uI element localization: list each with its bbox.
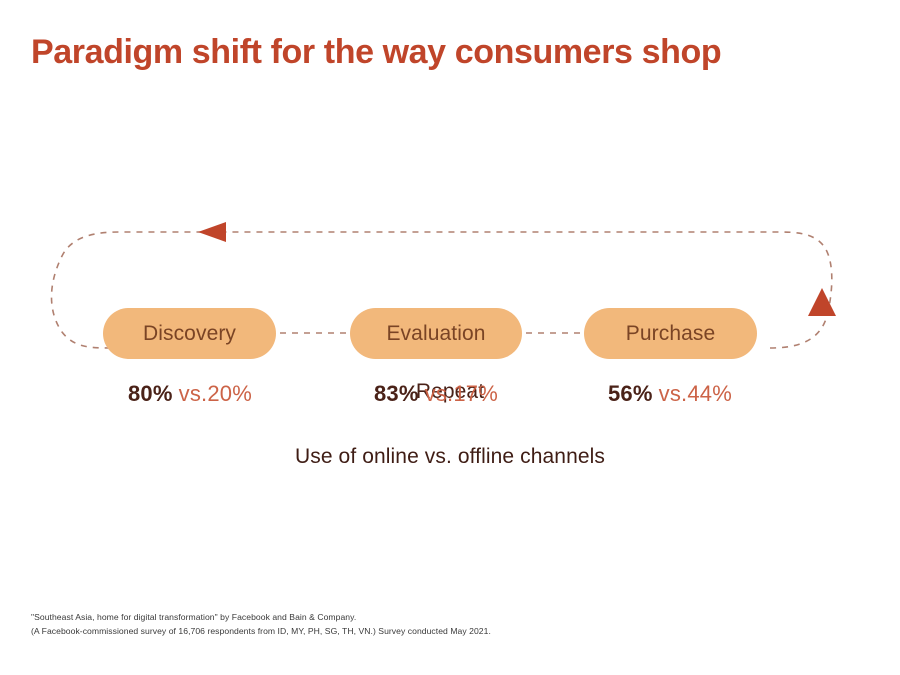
stat-offline-discovery: vs.20%: [179, 381, 252, 407]
footnote-line-1: "Southeast Asia, home for digital transf…: [31, 610, 871, 624]
stat-online-purchase: 56%: [608, 381, 653, 407]
page-title: Paradigm shift for the way consumers sho…: [31, 30, 851, 74]
stat-offline-purchase: vs.44%: [659, 381, 732, 407]
stage-pill-discovery[interactable]: Discovery: [103, 308, 276, 359]
stage-stat-purchase: 56% vs.44%: [570, 381, 770, 409]
stage-label-purchase: Purchase: [626, 322, 716, 346]
diagram-caption: Use of online vs. offline channels: [0, 445, 900, 469]
footnote: "Southeast Asia, home for digital transf…: [31, 610, 871, 638]
stage-stat-discovery: 80% vs.20%: [90, 381, 290, 409]
slide-canvas: Paradigm shift for the way consumers sho…: [0, 0, 900, 675]
stat-online-evaluation: 83%: [374, 381, 419, 407]
footnote-line-2: (A Facebook-commissioned survey of 16,70…: [31, 624, 871, 638]
stat-online-discovery: 80%: [128, 381, 173, 407]
repeat-arrow-up-icon: [808, 288, 836, 316]
stat-offline-evaluation: vs.17%: [425, 381, 498, 407]
stage-label-discovery: Discovery: [143, 322, 236, 346]
repeat-arrow-left-icon: [198, 222, 226, 242]
stage-label-evaluation: Evaluation: [386, 322, 485, 346]
stage-pill-purchase[interactable]: Purchase: [584, 308, 757, 359]
stage-stat-evaluation: 83% vs.17%: [336, 381, 536, 409]
stage-pill-evaluation[interactable]: Evaluation: [350, 308, 522, 359]
